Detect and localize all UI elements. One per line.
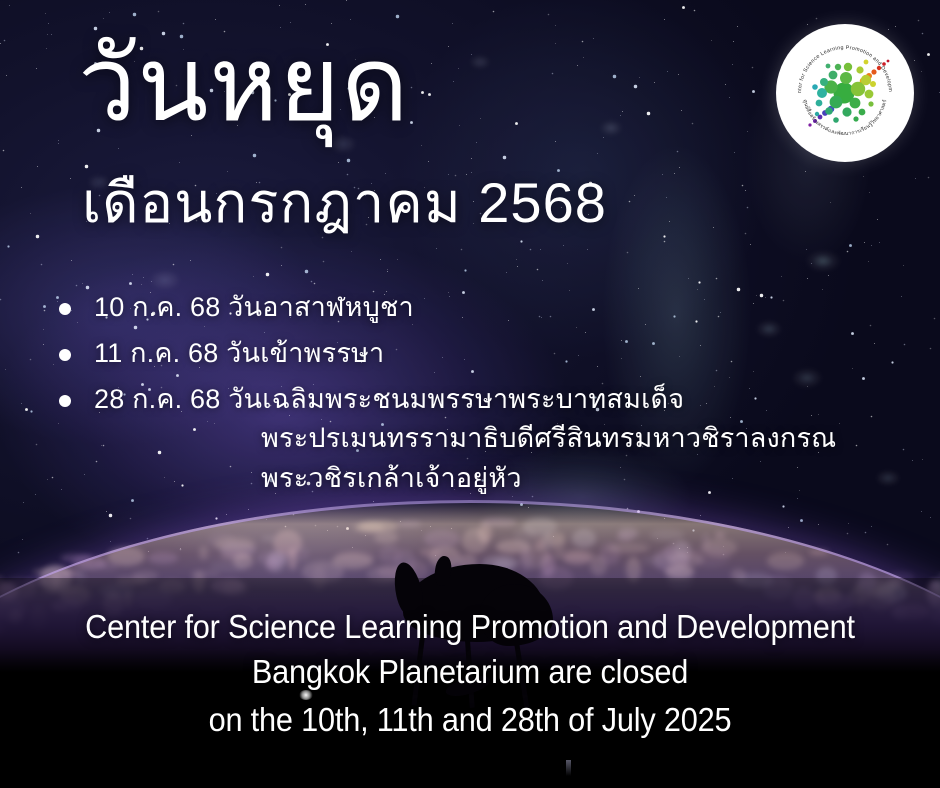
holiday-text: 11 ก.ค. 68 วันเข้าพรรษา <box>94 338 384 368</box>
light-streak <box>566 760 571 776</box>
bullet-icon <box>59 303 71 315</box>
list-item: 28 ก.ค. 68 วันเฉลิมพระชนมพรรษาพระบาทสมเด… <box>52 380 920 497</box>
holiday-text: 10 ก.ค. 68 วันอาสาฬหบูชา <box>94 292 414 322</box>
footer-line-3: on the 10th, 11th and 28th of July 2025 <box>33 696 907 744</box>
holiday-text-continuation: พระปรเมนทรรามาธิบดีศรีสินทรมหาวชิราลงกรณ <box>94 419 920 458</box>
list-item: 10 ก.ค. 68 วันอาสาฬหบูชา <box>52 288 920 327</box>
holiday-text: 28 ก.ค. 68 วันเฉลิมพระชนมพรรษาพระบาทสมเด… <box>94 384 684 414</box>
bullet-icon <box>59 349 71 361</box>
footer-line-2: Bangkok Planetarium are closed <box>33 648 907 696</box>
holiday-text-continuation: พระวชิรเกล้าเจ้าอยู่หัว <box>94 459 920 498</box>
list-item: 11 ก.ค. 68 วันเข้าพรรษา <box>52 334 920 373</box>
organization-logo[interactable]: Center for Science Learning Promotion an… <box>776 24 914 162</box>
footer-text-block: Center for Science Learning Promotion an… <box>0 606 940 744</box>
poster-title: วันหยุด <box>78 22 410 149</box>
footer-line-1: Center for Science Learning Promotion an… <box>33 606 907 648</box>
poster-subtitle: เดือนกรกฎาคม 2568 <box>82 172 607 234</box>
bullet-icon <box>59 395 71 407</box>
holiday-announcement-poster: Center for Science Learning Promotion an… <box>0 0 940 788</box>
holiday-list: 10 ก.ค. 68 วันอาสาฬหบูชา 11 ก.ค. 68 วันเ… <box>52 288 920 505</box>
